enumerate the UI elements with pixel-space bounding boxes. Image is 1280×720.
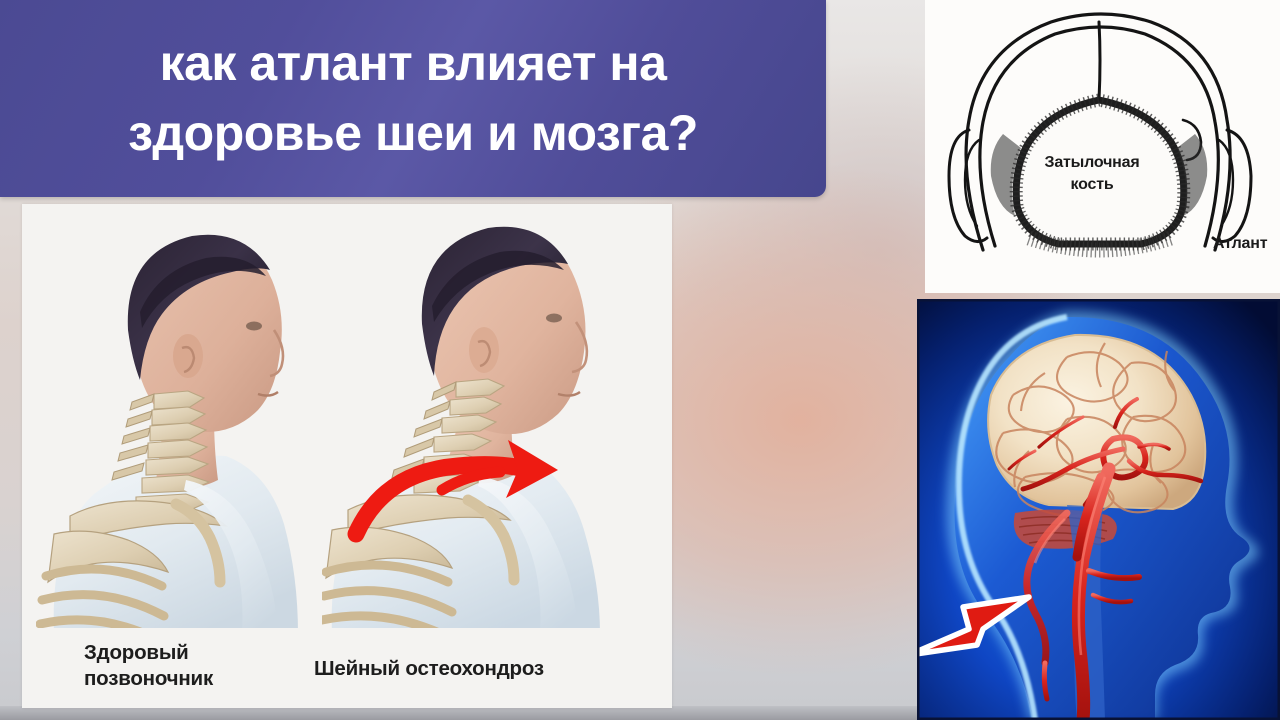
title-line-1: как атлант влияет на <box>160 31 667 95</box>
sagittal-suture <box>1099 22 1100 100</box>
caption-row: Здоровый позвоночник Шейный остеохондроз <box>22 628 672 708</box>
caption-healthy-line-2: позвоночник <box>84 666 284 692</box>
ear <box>469 327 499 373</box>
caption-osteochondrosis: Шейный остеохондроз <box>314 656 644 682</box>
label-occipital-line-2: кость <box>1017 174 1167 196</box>
spine-comparison-panel: Здоровый позвоночник Шейный остеохондроз <box>22 204 672 708</box>
title-banner: как атлант влияет на здоровье шеи и мозг… <box>0 0 826 197</box>
eye <box>546 314 562 323</box>
figure-healthy-spine <box>36 204 336 634</box>
label-occipital-line-1: Затылочная <box>1017 152 1167 174</box>
label-occipital-bone: Затылочная кость <box>1017 152 1167 195</box>
brain-artery-panel <box>917 299 1280 720</box>
osteochondrosis-illustration <box>322 204 652 634</box>
caption-healthy-spine: Здоровый позвоночник <box>84 640 284 692</box>
title-line-2: здоровье шеи и мозга? <box>128 101 698 165</box>
skull-diagram-panel: Затылочная кость Атлант <box>925 0 1280 293</box>
figure-osteochondrosis <box>322 204 652 634</box>
label-atlas: Атлант <box>1213 235 1280 253</box>
brain-artery-illustration <box>917 299 1280 720</box>
caption-healthy-line-1: Здоровый <box>84 640 284 666</box>
healthy-spine-illustration <box>36 204 336 634</box>
eye <box>246 322 262 331</box>
caption-osteochondrosis-line-1: Шейный остеохондроз <box>314 656 644 682</box>
